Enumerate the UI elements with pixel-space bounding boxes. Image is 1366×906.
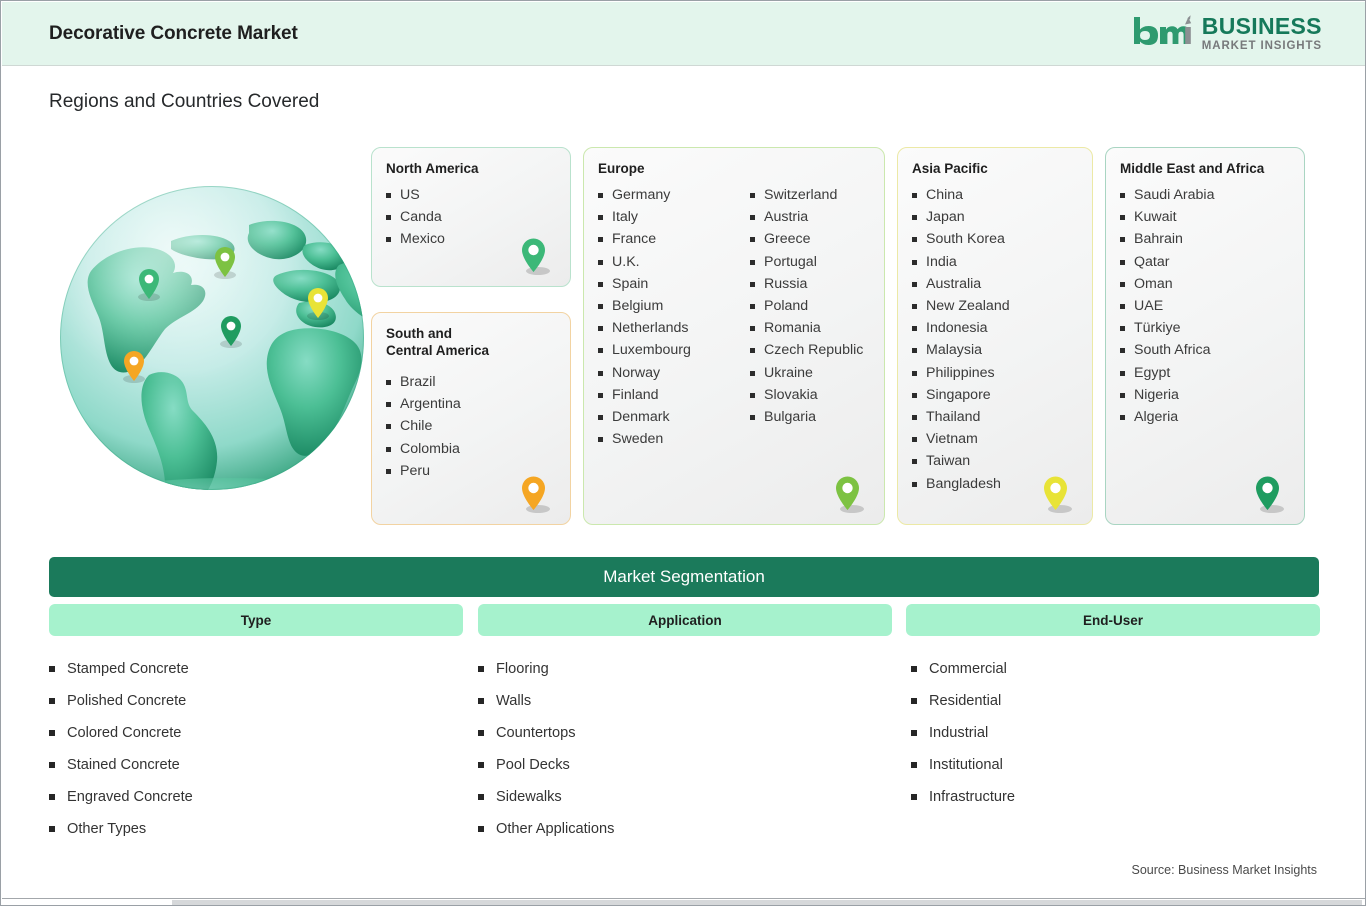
list-item: Italy (596, 206, 748, 228)
region-country-list-col1: Germany Italy France U.K. Spain Belgium … (596, 184, 748, 450)
list-item: Netherlands (596, 317, 748, 339)
list-item: Czech Republic (748, 339, 863, 361)
region-country-list: Brazil Argentina Chile Colombia Peru (384, 371, 461, 482)
list-item: Pool Decks (478, 749, 614, 781)
list-item: Luxembourg (596, 339, 748, 361)
list-item: Bulgaria (748, 406, 863, 428)
list-item: Malaysia (910, 339, 1010, 361)
list-item: Bangladesh (910, 473, 1010, 495)
list-item: Kuwait (1118, 206, 1214, 228)
region-title: South and Central America (386, 325, 489, 359)
list-item: Colombia (384, 438, 461, 460)
list-item: Bahrain (1118, 228, 1214, 250)
scrollbar-thumb[interactable] (172, 900, 1362, 905)
list-item: Canda (384, 206, 445, 228)
infographic-page: Decorative Concrete Market BUSINESS MARK… (0, 0, 1366, 906)
list-item: US (384, 184, 445, 206)
map-pin-icon (512, 472, 556, 516)
region-card-middle-east-and-africa: Middle East and Africa Saudi Arabia Kuwa… (1105, 147, 1305, 525)
list-item: Switzerland (748, 184, 863, 206)
segmentation-column-header-type: Type (49, 604, 463, 636)
list-item: Algeria (1118, 406, 1214, 428)
list-item: Portugal (748, 251, 863, 273)
list-item: Indonesia (910, 317, 1010, 339)
list-item: Spain (596, 273, 748, 295)
list-item: Norway (596, 362, 748, 384)
pin-north-america (138, 269, 160, 301)
page-title: Decorative Concrete Market (49, 23, 298, 45)
list-item: Stained Concrete (49, 749, 193, 781)
region-title: North America (386, 160, 479, 177)
list-item: Poland (748, 295, 863, 317)
list-item: Chile (384, 415, 461, 437)
region-country-list-col2: Switzerland Austria Greece Portugal Russ… (748, 184, 863, 450)
list-item: Peru (384, 460, 461, 482)
list-item: Colored Concrete (49, 717, 193, 749)
list-item: Polished Concrete (49, 685, 193, 717)
list-item: Belgium (596, 295, 748, 317)
list-item: Sidewalks (478, 781, 614, 813)
source-note: Source: Business Market Insights (1132, 863, 1318, 877)
list-item: UAE (1118, 295, 1214, 317)
segmentation-list-application: Flooring Walls Countertops Pool Decks Si… (478, 653, 614, 845)
list-item: Slovakia (748, 384, 863, 406)
list-item: Romania (748, 317, 863, 339)
list-item: Argentina (384, 393, 461, 415)
region-country-list: US Canda Mexico (384, 184, 445, 251)
pin-europe (214, 247, 236, 279)
region-title-line-2: Central America (386, 343, 489, 358)
globe-illustration (53, 179, 371, 497)
list-item: Qatar (1118, 251, 1214, 273)
list-item: Flooring (478, 653, 614, 685)
section-heading: Regions and Countries Covered (49, 91, 319, 113)
list-item: South Africa (1118, 339, 1214, 361)
list-item: Commercial (911, 653, 1015, 685)
list-item: Infrastructure (911, 781, 1015, 813)
segmentation-list-type: Stamped Concrete Polished Concrete Color… (49, 653, 193, 845)
list-item: Saudi Arabia (1118, 184, 1214, 206)
list-item: China (910, 184, 1010, 206)
list-item: France (596, 228, 748, 250)
region-title: Europe (598, 160, 645, 177)
list-item: New Zealand (910, 295, 1010, 317)
region-card-asia-pacific: Asia Pacific China Japan South Korea Ind… (897, 147, 1093, 525)
list-item: Residential (911, 685, 1015, 717)
map-pin-icon (1034, 472, 1078, 516)
list-item: U.K. (596, 251, 748, 273)
region-title-line-1: South and (386, 326, 452, 341)
list-item: Oman (1118, 273, 1214, 295)
segmentation-list-end-user: Commercial Residential Industrial Instit… (911, 653, 1015, 813)
list-item: Ukraine (748, 362, 863, 384)
map-pin-icon (1246, 472, 1290, 516)
list-item: Industrial (911, 717, 1015, 749)
list-item: Brazil (384, 371, 461, 393)
list-item: Institutional (911, 749, 1015, 781)
list-item: Germany (596, 184, 748, 206)
map-pin-icon (512, 234, 556, 278)
logo-business-text: BUSINESS (1202, 15, 1322, 38)
logo-wordmark: BUSINESS MARKET INSIGHTS (1202, 15, 1322, 53)
bmi-logo-icon (1130, 14, 1192, 54)
list-item: Walls (478, 685, 614, 717)
list-item: Nigeria (1118, 384, 1214, 406)
horizontal-scrollbar[interactable] (2, 898, 1366, 905)
list-item: Other Applications (478, 813, 614, 845)
logo-tagline-text: MARKET INSIGHTS (1202, 41, 1322, 53)
list-item: Taiwan (910, 450, 1010, 472)
region-country-list: China Japan South Korea India Australia … (910, 184, 1010, 495)
list-item: India (910, 251, 1010, 273)
list-item: Finland (596, 384, 748, 406)
region-card-europe: Europe Germany Italy France U.K. Spain B… (583, 147, 885, 525)
pin-south-central-america (123, 351, 145, 383)
list-item: Egypt (1118, 362, 1214, 384)
region-country-list: Saudi Arabia Kuwait Bahrain Qatar Oman U… (1118, 184, 1214, 428)
market-segmentation-header: Market Segmentation (49, 557, 1319, 597)
segmentation-column-header-application: Application (478, 604, 892, 636)
list-item: Russia (748, 273, 863, 295)
list-item: Japan (910, 206, 1010, 228)
list-item: Vietnam (910, 428, 1010, 450)
segmentation-column-header-end-user: End-User (906, 604, 1320, 636)
region-card-north-america: North America US Canda Mexico (371, 147, 571, 287)
list-item: Other Types (49, 813, 193, 845)
list-item: Stamped Concrete (49, 653, 193, 685)
list-item: Philippines (910, 362, 1010, 384)
list-item: Engraved Concrete (49, 781, 193, 813)
region-title: Middle East and Africa (1120, 160, 1264, 177)
page-header: Decorative Concrete Market BUSINESS MARK… (2, 2, 1366, 66)
pin-middle-east-africa (220, 316, 242, 348)
list-item: Mexico (384, 228, 445, 250)
pin-asia-pacific (307, 288, 329, 320)
list-item: Austria (748, 206, 863, 228)
region-card-south-and-central-america: South and Central America Brazil Argenti… (371, 312, 571, 525)
list-item: Greece (748, 228, 863, 250)
brand-logo: BUSINESS MARKET INSIGHTS (1130, 11, 1322, 57)
list-item: Sweden (596, 428, 748, 450)
list-item: Singapore (910, 384, 1010, 406)
list-item: South Korea (910, 228, 1010, 250)
list-item: Thailand (910, 406, 1010, 428)
list-item: Denmark (596, 406, 748, 428)
map-pin-icon (826, 472, 870, 516)
list-item: Australia (910, 273, 1010, 295)
globe-svg (53, 179, 371, 497)
list-item: Countertops (478, 717, 614, 749)
list-item: Türkiye (1118, 317, 1214, 339)
region-title: Asia Pacific (912, 160, 988, 177)
